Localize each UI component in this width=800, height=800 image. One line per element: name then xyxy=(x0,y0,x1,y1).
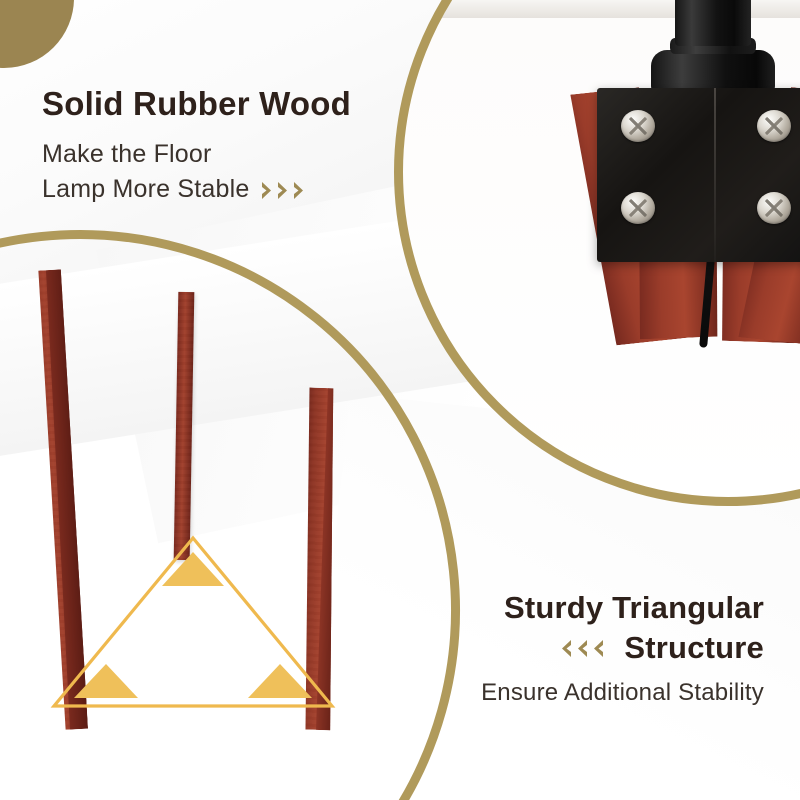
headline-sturdy-triangular: Sturdy Triangular xyxy=(294,588,764,628)
metal-bracket-plate xyxy=(597,88,800,262)
lamp-pole-shaft xyxy=(675,0,751,46)
headline-solid-rubber-wood: Solid Rubber Wood xyxy=(42,86,442,123)
screw-icon xyxy=(621,110,655,142)
subline-lamp-more-stable: Lamp More Stable xyxy=(42,172,249,208)
wood-leg-center xyxy=(174,292,195,560)
marketing-banner: Solid Rubber Wood Make the Floor Lamp Mo… xyxy=(0,0,800,800)
feature-block-bottom-right: Sturdy Triangular Structure Ensure Addit… xyxy=(294,588,764,707)
screw-icon xyxy=(757,192,791,224)
chevrons-right-icon xyxy=(261,181,306,200)
bracket-fold-line xyxy=(714,88,716,262)
screw-icon xyxy=(621,192,655,224)
product-photo-bracket-closeup xyxy=(398,0,800,502)
screw-icon xyxy=(757,110,791,142)
subline-make-the-floor: Make the Floor xyxy=(42,137,442,173)
chevrons-left-icon xyxy=(559,639,604,658)
subline-ensure-additional-stability: Ensure Additional Stability xyxy=(294,679,764,707)
feature-block-top-left: Solid Rubber Wood Make the Floor Lamp Mo… xyxy=(42,86,442,208)
headline-structure: Structure xyxy=(624,628,764,668)
